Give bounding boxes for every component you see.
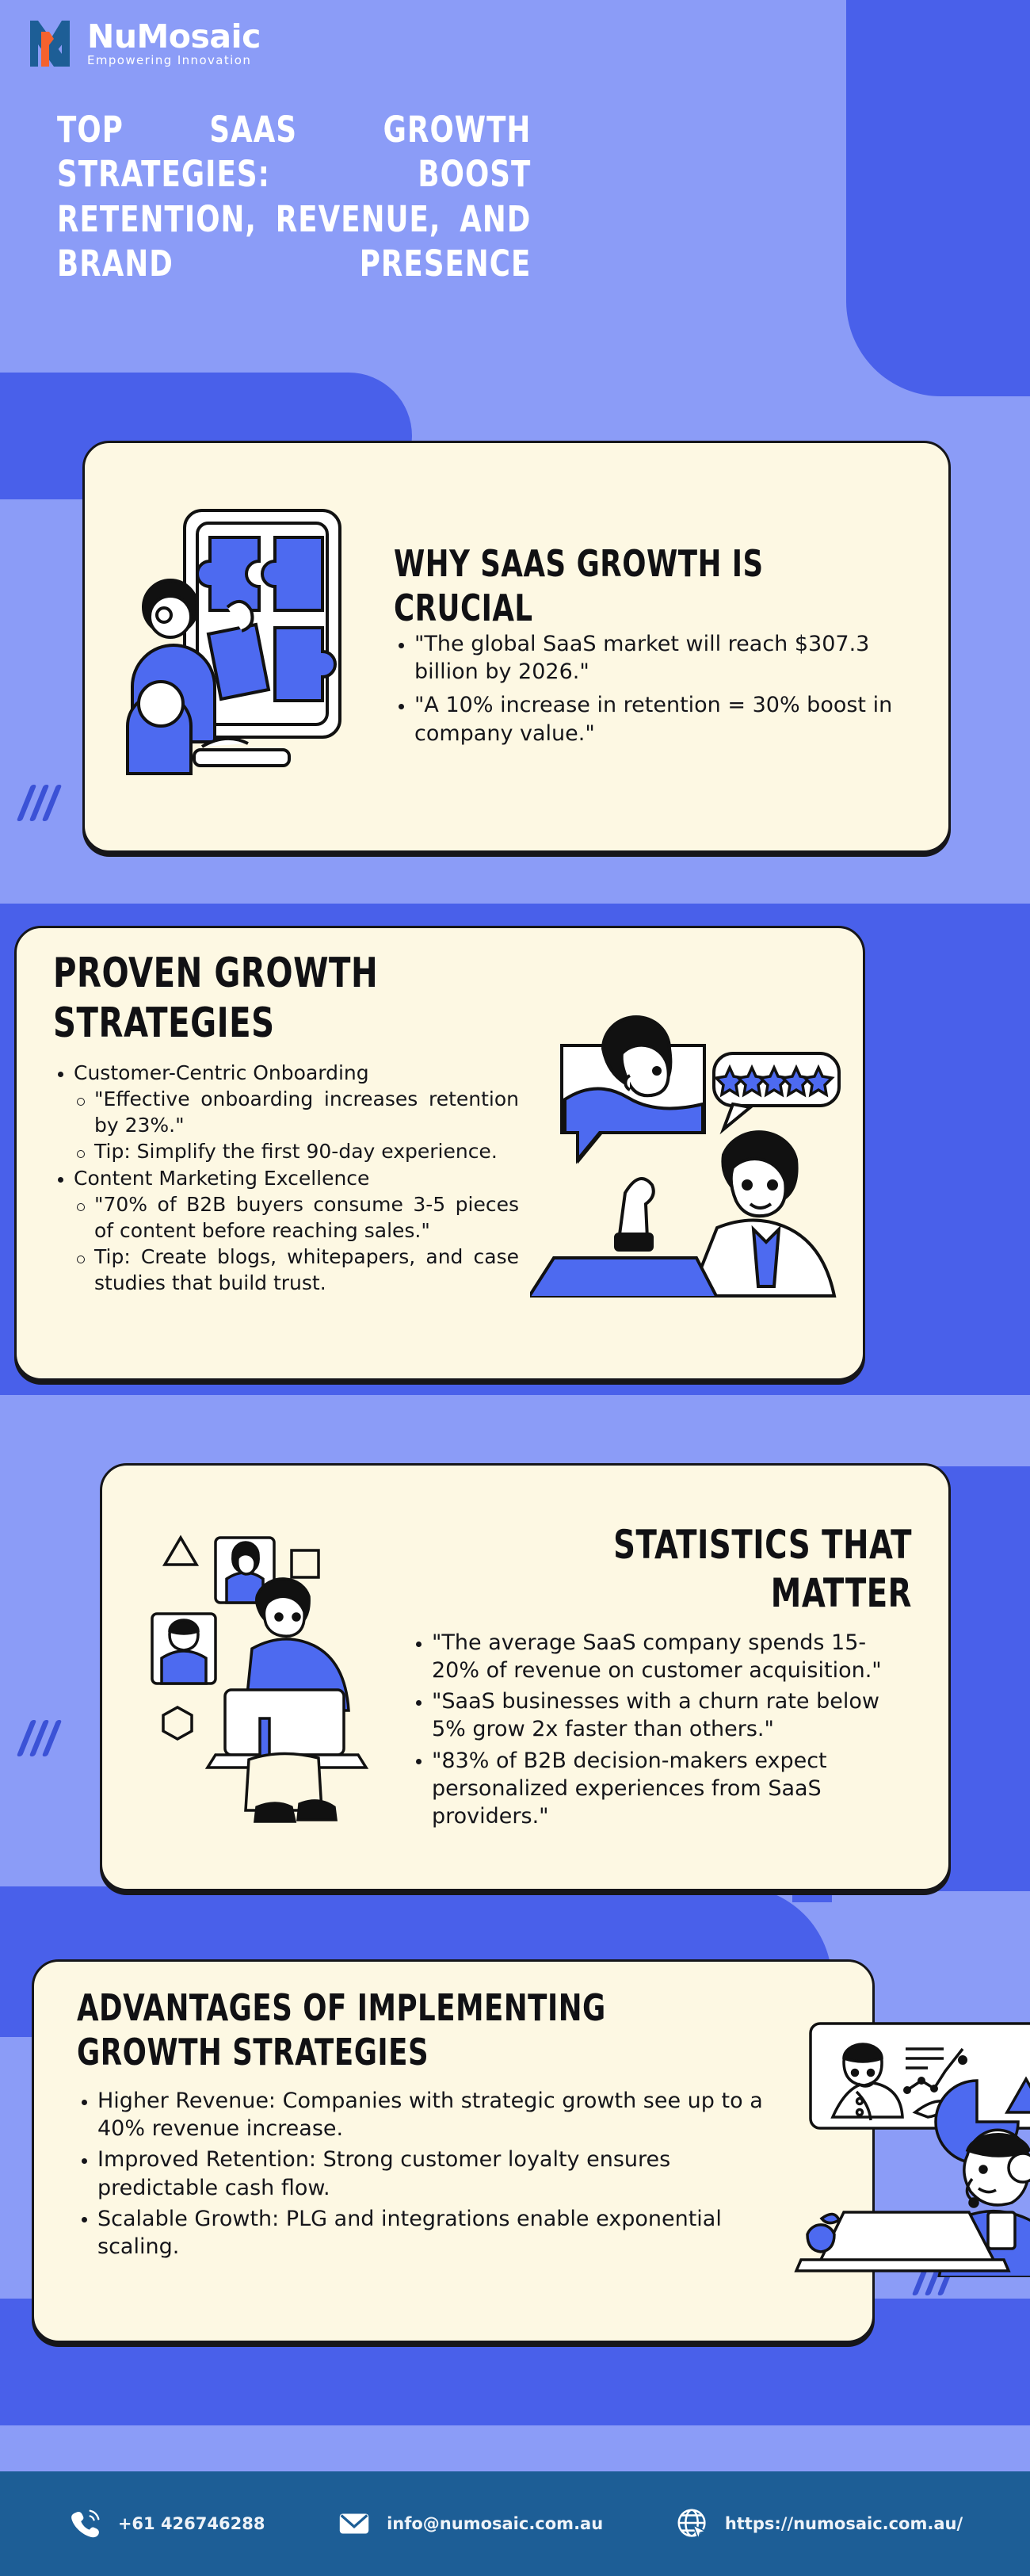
illustration-puzzle-board [85,488,394,805]
list-item: Scalable Growth: PLG and integrations en… [77,2205,774,2261]
illustration-support-agent-analytics [779,1986,872,2329]
sub-list: "70% of B2B buyers consume 3-5 pieces of… [74,1192,519,1296]
doodle-slashes-left-1 [24,785,62,821]
sub-list-item: "70% of B2B buyers consume 3-5 pieces of… [74,1192,519,1244]
list-item: "A 10% increase in retention = 30% boost… [394,691,906,747]
card-bullet-list: Higher Revenue: Companies with strategic… [77,2087,774,2261]
page-header: NuMosaic Empowering Innovation Top SaaS … [0,0,1030,331]
list-item: "The global SaaS market will reach $307.… [394,630,906,686]
brand-tagline: Empowering Innovation [87,55,261,67]
doodle-slashes-left-2 [24,1720,62,1756]
list-item: "83% of B2B decision-makers expect perso… [411,1747,912,1830]
numosaic-m-monogram-icon [27,17,76,70]
email-icon [336,2505,372,2542]
phone-icon [67,2505,104,2542]
page-title: Top SaaS Growth Strategies: Boost Retent… [57,108,531,331]
sub-list-item: Tip: Create blogs, whitepapers, and case… [74,1244,519,1296]
bg-band-3 [0,2425,1030,2473]
brand-logo[interactable]: NuMosaic Empowering Innovation [27,17,1003,70]
footer-contact-bar: +61 426746288 info@numosaic.com.au htt [0,2471,1030,2576]
sub-list: "Effective onboarding increases retentio… [74,1087,519,1165]
card-bullet-list: Customer-Centric Onboarding "Effective o… [53,1061,519,1297]
card-bullet-list: "The average SaaS company spends 15-20% … [411,1629,912,1830]
card-advantages-of-implementing-growth-strategies: Advantages of Implementing Growth Strate… [32,1959,875,2343]
card-why-saas-growth-is-crucial: Why SaaS Growth Is Crucial "The global S… [82,441,951,853]
brand-name: NuMosaic [87,21,261,53]
list-item: Higher Revenue: Companies with strategic… [77,2087,774,2142]
sub-list-item: "Effective onboarding increases retentio… [74,1087,519,1138]
footer-email[interactable]: info@numosaic.com.au [336,2505,603,2542]
sub-list-item: Tip: Simplify the first 90-day experienc… [74,1139,519,1165]
bg-band-2 [832,1891,1030,1967]
card-proven-growth-strategies: Proven Growth Strategies Customer-Centri… [14,926,865,1381]
list-item: Content Marketing Excellence "70% of B2B… [53,1166,519,1297]
group-label: Customer-Centric Onboarding [74,1061,369,1084]
globe-cursor-icon [674,2505,711,2542]
card-title: Proven Growth Strategies [53,949,454,1049]
bg-band-1 [0,1395,1030,1466]
card-title: Why SaaS Growth Is Crucial [394,541,830,630]
card-title: Statistics That Matter [481,1521,912,1618]
footer-phone-label: +61 426746288 [118,2514,265,2533]
card-bullet-list: "The global SaaS market will reach $307.… [394,630,906,748]
group-label: Content Marketing Excellence [74,1167,369,1190]
list-item: "SaaS businesses with a churn rate below… [411,1687,912,1743]
card-statistics-that-matter: Statistics That Matter "The average SaaS… [100,1463,951,1891]
footer-email-label: info@numosaic.com.au [387,2514,603,2533]
illustration-five-star-review [530,949,863,1370]
illustration-video-call-team [102,1519,411,1836]
footer-website[interactable]: https://numosaic.com.au/ [674,2505,963,2542]
list-item: "The average SaaS company spends 15-20% … [411,1629,912,1684]
footer-website-label: https://numosaic.com.au/ [725,2514,963,2533]
footer-phone[interactable]: +61 426746288 [67,2505,265,2542]
infographic-page: NuMosaic Empowering Innovation Top SaaS … [0,0,1030,2576]
list-item: Improved Retention: Strong customer loya… [77,2146,774,2201]
list-item: Customer-Centric Onboarding "Effective o… [53,1061,519,1165]
card-title: Advantages of Implementing Growth Strate… [77,1986,677,2074]
